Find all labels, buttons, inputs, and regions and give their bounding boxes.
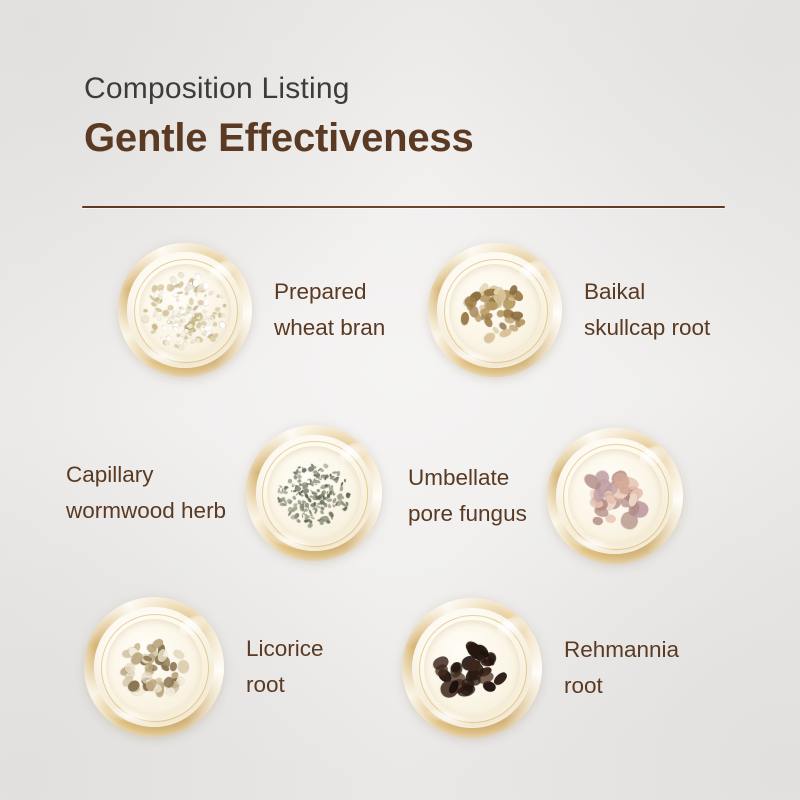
ingredient-particle [222,304,227,309]
ingredient-particle [177,312,183,317]
ingredient-particle [518,318,526,326]
ingredient-label-licorice-root: Licorice root [246,631,324,704]
ingredient-particle [296,519,301,524]
ingredient-particle [301,468,308,475]
ingredient-label-line2: skullcap root [584,310,710,346]
ingredient-particle [303,509,308,512]
ingredient-particle [178,272,185,279]
ingredient-particle [162,326,167,331]
header: Composition Listing Gentle Effectiveness [84,72,744,162]
ingredient-label-line1: Prepared [274,274,385,310]
ingredient-dish-rehmannia-root [402,598,542,738]
ingredient-label-line2: root [564,668,679,704]
ingredient-particle [173,648,186,660]
ingredient-label-line2: wormwood herb [66,493,226,529]
ingredient-particle [163,340,170,346]
ingredient-particle [295,515,297,519]
ingredient-label-line2: root [246,667,324,703]
ingredient-particle [292,496,296,501]
ingredient-particle [593,516,605,526]
ingredient-particle [221,294,225,298]
ingredient-dish-capillary-wormwood-herb [246,425,382,561]
ingredient-item-licorice-root: Licorice root [84,597,324,737]
ingredient-particle [305,503,309,508]
ingredient-item-capillary-wormwood-herb: Capillary wormwood herb [66,425,382,561]
ingredient-particle [176,295,180,298]
ingredient-particle [332,471,337,473]
ingredient-dish-licorice-root [84,597,224,737]
ingredient-particle [195,337,201,343]
ingredient-particle [279,491,283,494]
ingredient-particle [346,501,350,504]
ingredient-particle [143,310,147,314]
ingredient-particle [325,475,328,478]
ingredient-particle [203,309,208,313]
ingredient-particle [183,342,186,347]
page-kicker: Composition Listing [84,72,744,106]
ingredient-dish-baikal-skullcap-root [428,243,562,377]
composition-listing-poster: Composition Listing Gentle Effectiveness… [0,0,800,800]
ingredient-label-line2: wheat bran [274,310,385,346]
ingredient-item-rehmannia-root: Rehmannia root [402,598,679,738]
ingredient-particle [320,519,324,524]
ingredient-particle [336,501,342,506]
ingredient-particle [286,485,289,488]
ingredient-particle [177,339,179,342]
ingredient-particle [605,514,617,524]
ingredient-label-rehmannia-root: Rehmannia root [564,632,679,705]
ingredient-particle [311,516,315,519]
ingredient-particle [167,284,173,291]
ingredient-particle [288,479,293,484]
ingredient-particle [202,282,210,290]
ingredient-item-baikal-skullcap-root: Baikal skullcap root [428,243,710,377]
ingredient-particle [277,497,280,501]
ingredient-dish-prepared-wheat-bran [118,243,252,377]
ingredient-label-prepared-wheat-bran: Prepared wheat bran [274,274,385,347]
ingredient-particle [316,488,320,492]
ingredient-particle [158,302,162,304]
ingredient-particle [283,490,289,495]
ingredient-particle [195,293,197,297]
ingredient-particle [217,295,220,298]
ingredient-label-umbellate-pore-fungus: Umbellate pore fungus [408,460,527,533]
ingredient-particle [302,515,304,518]
ingredient-particle [287,498,293,504]
ingredient-particle [492,670,509,687]
ingredient-particle [178,660,190,673]
ingredient-particle [314,509,318,514]
ingredient-particle [344,479,347,483]
ingredient-particle [182,318,185,322]
header-divider [82,206,725,208]
ingredient-particle [166,335,171,340]
ingredient-dish-umbellate-pore-fungus [547,428,683,564]
ingredient-label-capillary-wormwood-herb: Capillary wormwood herb [66,457,226,530]
ingredient-particle [319,510,324,516]
ingredient-particle [301,494,305,497]
ingredient-particle [332,505,335,508]
ingredient-particle [204,294,207,297]
ingredient-particle [310,503,315,508]
ingredient-label-baikal-skullcap-root: Baikal skullcap root [584,274,710,347]
ingredient-particle [141,314,150,323]
ingredient-item-umbellate-pore-fungus: Umbellate pore fungus [408,428,683,564]
ingredient-particle [177,291,183,294]
ingredient-particle [339,486,343,492]
ingredient-particle [323,463,329,469]
ingredient-particle [169,662,177,672]
ingredient-particle [282,504,286,507]
ingredient-label-line1: Baikal [584,274,710,310]
ingredient-particle [327,499,332,503]
ingredient-particle [158,314,161,320]
ingredient-particle [173,327,179,333]
page-title: Gentle Effectiveness [84,114,744,162]
ingredient-particle [326,520,330,524]
ingredient-label-line1: Licorice [246,631,324,667]
ingredient-item-prepared-wheat-bran: Prepared wheat bran [118,243,385,377]
ingredient-particle [330,474,332,477]
ingredient-particle [208,291,214,296]
ingredient-particle [160,335,163,338]
ingredient-particle [189,298,194,306]
ingredient-particle [176,299,180,302]
ingredient-particle [333,493,336,495]
ingredient-particle [292,506,298,512]
ingredient-particle [202,298,210,306]
ingredient-particle [303,489,307,492]
ingredient-label-line1: Rehmannia [564,632,679,668]
ingredient-label-line1: Umbellate [408,460,527,496]
ingredient-particle [498,289,506,302]
ingredient-label-line2: pore fungus [408,496,527,532]
ingredient-label-line1: Capillary [66,457,226,493]
ingredient-particle [327,504,331,509]
